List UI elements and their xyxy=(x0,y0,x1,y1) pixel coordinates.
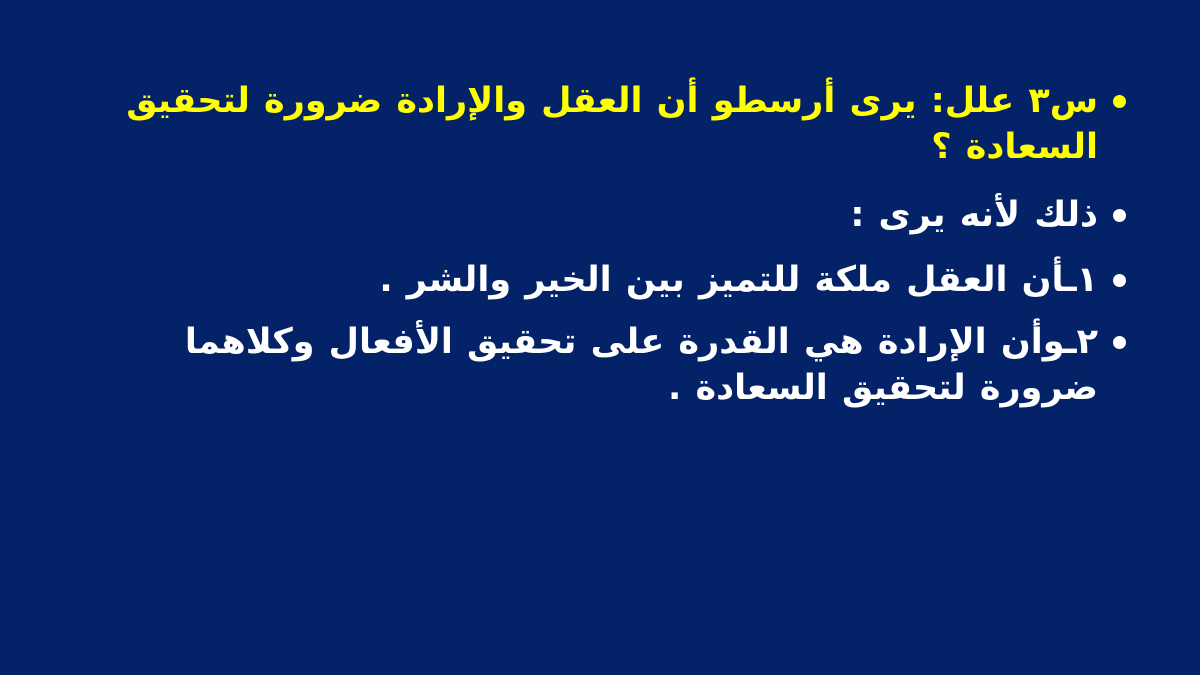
bullet-point-icon xyxy=(1098,78,1140,108)
bullet-point-icon xyxy=(1098,192,1140,222)
bullet-point-icon xyxy=(1098,319,1140,349)
bullet-item-reason-1: ١ـأن العقل ملكة للتميز بين الخير والشر . xyxy=(60,257,1140,303)
bullet-text-answer-intro: ذلك لأنه يرى : xyxy=(60,192,1098,238)
bullet-item-question: س٣ علل: يرى أرسطو أن العقل والإرادة ضرور… xyxy=(60,78,1140,170)
bullet-point-icon xyxy=(1098,257,1140,287)
bullet-item-answer-intro: ذلك لأنه يرى : xyxy=(60,192,1140,238)
bullet-text-reason-2: ٢ـوأن الإرادة هي القدرة على تحقيق الأفعا… xyxy=(60,319,1098,411)
presentation-slide: س٣ علل: يرى أرسطو أن العقل والإرادة ضرور… xyxy=(0,0,1200,675)
bullet-text-reason-1: ١ـأن العقل ملكة للتميز بين الخير والشر . xyxy=(60,257,1098,303)
bullet-text-question: س٣ علل: يرى أرسطو أن العقل والإرادة ضرور… xyxy=(60,78,1098,170)
bullet-item-reason-2: ٢ـوأن الإرادة هي القدرة على تحقيق الأفعا… xyxy=(60,319,1140,411)
slide-body-text: س٣ علل: يرى أرسطو أن العقل والإرادة ضرور… xyxy=(60,78,1140,411)
